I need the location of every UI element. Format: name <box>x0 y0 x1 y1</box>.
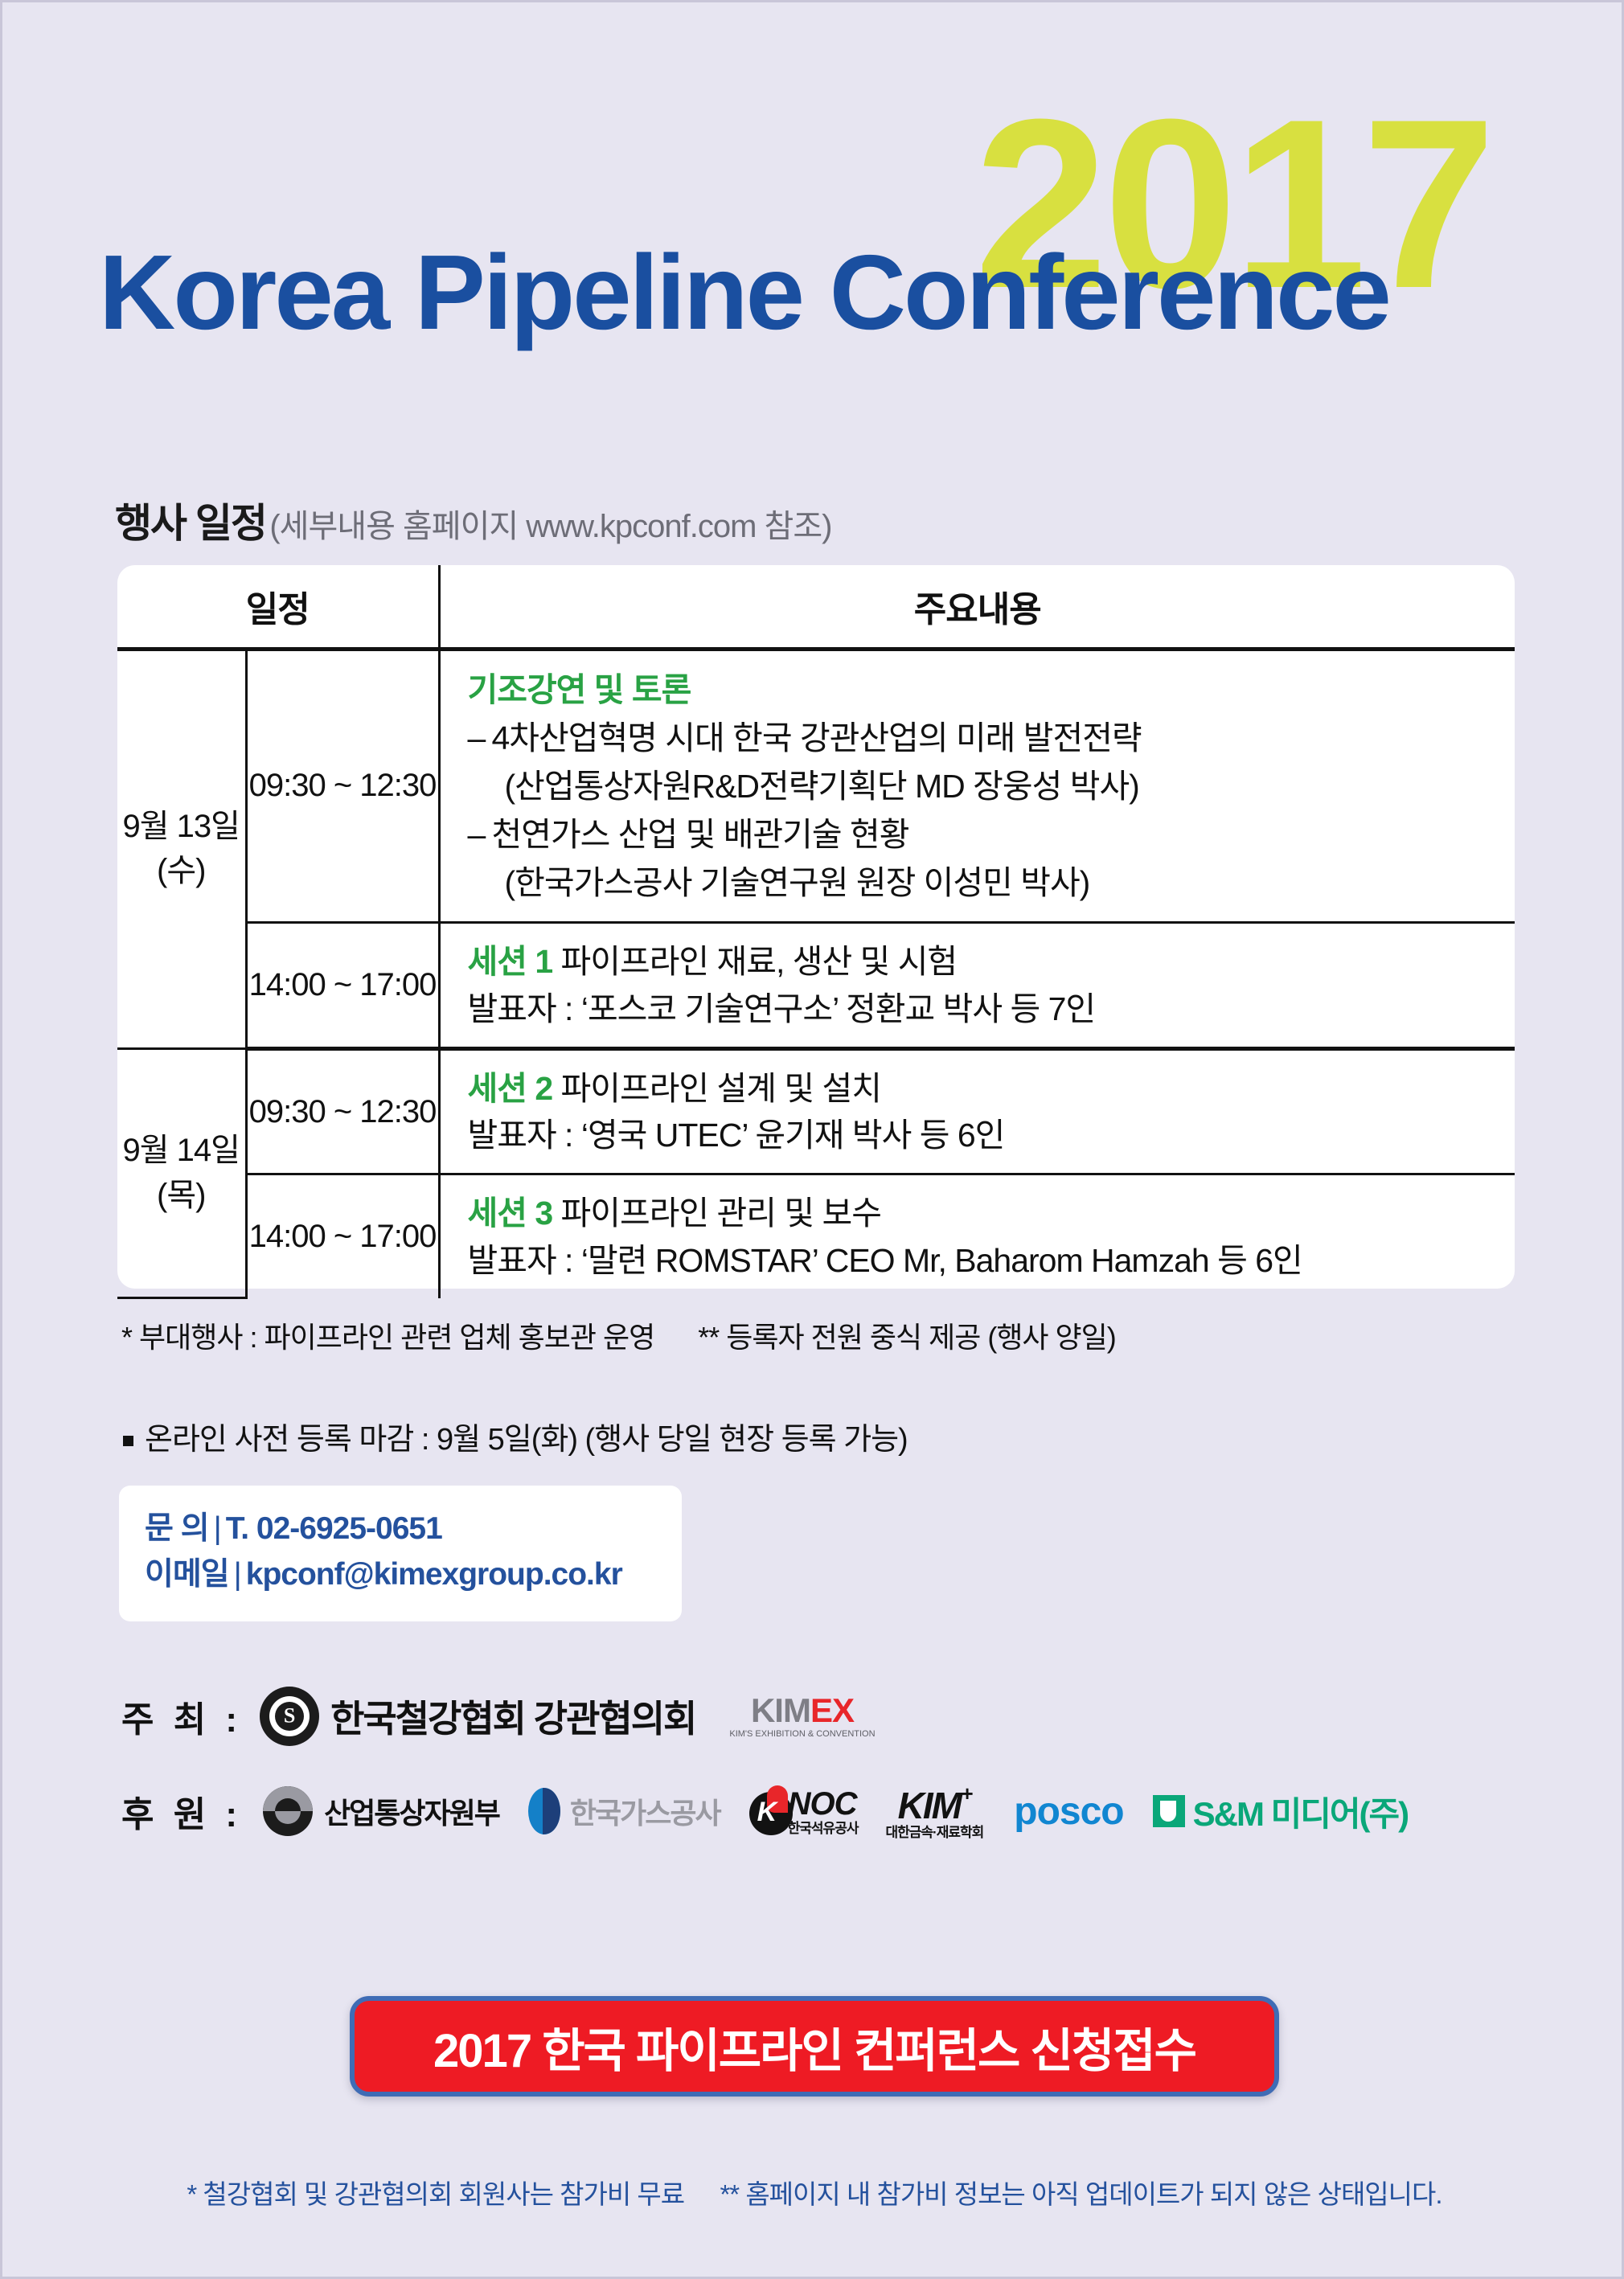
notes-row: * 부대행사 : 파이프라인 관련 업체 홍보관 운영 ** 등록자 전원 중식… <box>121 1314 1116 1356</box>
session-1-presenter: 발표자 : ‘포스코 기술연구소’ 정환교 박사 등 7인 <box>468 986 1515 1032</box>
contact-phone-label: 문 의 <box>145 1511 209 1546</box>
keynote-item-1-main: 4차산업혁명 시대 한국 강관산업의 미래 발전전략 <box>492 719 1142 756</box>
keynote-item-1: –4차산업혁명 시대 한국 강관산업의 미래 발전전략 <box>468 715 1515 763</box>
contact-email-label: 이메일 <box>145 1557 229 1592</box>
schedule-table-wrapper: 일정 주요내용 9월 13일 (수) 09:30 ~ 12:30 기조강연 및 … <box>117 565 1515 1289</box>
registration-note-text: 온라인 사전 등록 마감 : 9월 5일(화) (행사 당일 현장 등록 가능) <box>145 1423 908 1457</box>
page-title: Korea Pipeline Conference <box>99 240 1389 346</box>
cell-date-sep13: 9월 13일 (수) <box>117 649 246 1048</box>
session-3-topic: 파이프라인 관리 및 보수 <box>561 1195 881 1232</box>
keynote-item-2: –천연가스 산업 및 배관기술 현황 <box>468 811 1515 859</box>
session-2-topic: 파이프라인 설계 및 설치 <box>561 1070 881 1107</box>
footer-notes: * 철강협회 및 강관협의회 회원사는 참가비 무료 ** 홈페이지 내 참가비… <box>2 2173 1624 2211</box>
registration-note: 온라인 사전 등록 마감 : 9월 5일(화) (행사 당일 현장 등록 가능) <box>123 1414 908 1458</box>
kimex-part1: KIM <box>751 1691 810 1729</box>
kimex-part2: EX <box>810 1691 854 1729</box>
sponsor-kim: KIM+ 대한금속·재료학회 <box>885 1783 983 1839</box>
knoc-icon <box>749 1792 793 1835</box>
sponsor-kim-name: KIM <box>898 1785 961 1826</box>
table-row: 14:00 ~ 17:00 세션 1 파이프라인 재료, 생산 및 시험 발표자… <box>117 923 1515 1048</box>
table-row: 9월 14일 (목) 09:30 ~ 12:30 세션 2 파이프라인 설계 및… <box>117 1048 1515 1174</box>
contact-phone-row: 문 의|T. 02-6925-0651 <box>145 1506 682 1552</box>
session-1-topic: 파이프라인 재료, 생산 및 시험 <box>561 943 958 980</box>
snm-icon <box>1153 1795 1185 1827</box>
separator: | <box>229 1557 246 1592</box>
separator: | <box>209 1511 226 1546</box>
schedule-heading-sub: (세부내용 홈페이지 www.kpconf.com 참조) <box>269 509 831 544</box>
sponsor-kogas: 한국가스공사 <box>528 1788 720 1834</box>
cell-content-session-2: 세션 2 파이프라인 설계 및 설치 발표자 : ‘영국 UTEC’ 윤기재 박… <box>439 1048 1515 1174</box>
date-line-1: 9월 14일 <box>117 1129 245 1173</box>
contact-email-row: 이메일|kpconf@kimexgroup.co.kr <box>145 1552 682 1598</box>
sponsor-snm-name: S&M 미디어(주) <box>1193 1787 1409 1836</box>
contact-email-value[interactable]: kpconf@kimexgroup.co.kr <box>246 1557 622 1592</box>
keynote-title: 기조강연 및 토론 <box>468 666 1515 715</box>
keynote-item-1-sub: (산업통상자원R&D전략기획단 MD 장웅성 박사) <box>468 763 1515 811</box>
cell-time-0930-1230-day2: 09:30 ~ 12:30 <box>246 1048 439 1174</box>
date-line-2: (수) <box>117 849 245 893</box>
keynote-item-2-sub: (한국가스공사 기술연구원 원장 이성민 박사) <box>468 859 1515 908</box>
apply-button[interactable]: 2017 한국 파이프라인 컨퍼런스 신청접수 <box>350 1996 1279 2097</box>
contact-phone-value[interactable]: T. 02-6925-0651 <box>226 1511 442 1546</box>
host-row: 주 최 : 한국철강협회 강관협의회 KIMEX KIM'S EXHIBITIO… <box>121 1687 876 1746</box>
sponsor-kogas-name: 한국가스공사 <box>570 1790 720 1832</box>
schedule-heading-main: 행사 일정 <box>115 501 266 546</box>
sponsor-snm: S&M 미디어(주) <box>1153 1787 1409 1836</box>
session-2-label: 세션 2 <box>468 1070 553 1107</box>
taegeuk-icon <box>263 1786 313 1836</box>
schedule-table: 일정 주요내용 9월 13일 (수) 09:30 ~ 12:30 기조강연 및 … <box>117 565 1515 1299</box>
kosa-seal-core-icon <box>275 1702 304 1731</box>
host-name: 한국철강협회 강관협의회 <box>330 1690 695 1743</box>
session-1-label: 세션 1 <box>468 943 553 980</box>
table-row: 14:00 ~ 17:00 세션 3 파이프라인 관리 및 보수 발표자 : ‘… <box>117 1174 1515 1298</box>
poster-root: 2017 Korea Pipeline Conference 행사 일정 (세부… <box>0 0 1624 2279</box>
sponsor-knoc: NOC 한국석유공사 <box>749 1788 859 1835</box>
session-2-presenter: 발표자 : ‘영국 UTEC’ 윤기재 박사 등 6인 <box>468 1112 1515 1158</box>
plus-icon: + <box>961 1781 971 1806</box>
square-bullet-icon <box>123 1436 133 1446</box>
sponsor-row: 후 원 : 산업통상자원부 한국가스공사 NOC 한국석유공사 KIM+ 대한금… <box>121 1783 1408 1839</box>
sponsor-knoc-name: NOC <box>788 1786 857 1822</box>
date-line-1: 9월 13일 <box>117 805 245 849</box>
cell-date-sep14: 9월 14일 (목) <box>117 1048 246 1297</box>
sponsor-kim-sub: 대한금속·재료학회 <box>885 1826 983 1839</box>
kimex-tagline: KIM'S EXHIBITION & CONVENTION <box>729 1730 875 1739</box>
sponsor-posco-name: posco <box>1014 1789 1123 1834</box>
host-label: 주 최 : <box>121 1691 242 1742</box>
sponsor-label: 후 원 : <box>121 1785 242 1837</box>
dash-marker: – <box>468 715 492 763</box>
sponsor-motie-name: 산업통상자원부 <box>324 1790 499 1832</box>
dash-marker: – <box>468 811 492 859</box>
cell-content-keynote: 기조강연 및 토론 –4차산업혁명 시대 한국 강관산업의 미래 발전전략 (산… <box>439 649 1515 923</box>
cell-time-1400-1700-day1: 14:00 ~ 17:00 <box>246 923 439 1048</box>
table-header-row: 일정 주요내용 <box>117 565 1515 649</box>
column-header-schedule: 일정 <box>117 565 439 649</box>
note-side-event: * 부대행사 : 파이프라인 관련 업체 홍보관 운영 <box>121 1321 654 1354</box>
apply-button-label: 2017 한국 파이프라인 컨퍼런스 신청접수 <box>433 2013 1195 2080</box>
session-3-presenter: 발표자 : ‘말련 ROMSTAR’ CEO Mr, Baharom Hamza… <box>468 1237 1515 1284</box>
footer-note-2: ** 홈페이지 내 참가비 정보는 아직 업데이트가 되지 않은 상태입니다. <box>720 2179 1442 2209</box>
cell-content-session-3: 세션 3 파이프라인 관리 및 보수 발표자 : ‘말련 ROMSTAR’ CE… <box>439 1174 1515 1298</box>
hero-banner: 2017 Korea Pipeline Conference <box>2 2 1624 453</box>
cell-time-1400-1700-day2: 14:00 ~ 17:00 <box>246 1174 439 1298</box>
column-header-content: 주요내용 <box>439 565 1515 649</box>
schedule-heading: 행사 일정 (세부내용 홈페이지 www.kpconf.com 참조) <box>115 491 831 549</box>
session-3-label: 세션 3 <box>468 1195 553 1232</box>
cell-time-0930-1230-day1: 09:30 ~ 12:30 <box>246 649 439 923</box>
sponsor-motie: 산업통상자원부 <box>263 1786 499 1836</box>
session-2-heading: 세션 2 파이프라인 설계 및 설치 <box>468 1065 1515 1112</box>
kimex-logo-icon: KIMEX KIM'S EXHIBITION & CONVENTION <box>729 1694 875 1739</box>
sponsor-knoc-sub: 한국석유공사 <box>788 1822 859 1835</box>
knoc-wordmark: NOC 한국석유공사 <box>788 1788 859 1835</box>
keynote-item-2-main: 천연가스 산업 및 배관기술 현황 <box>492 816 909 853</box>
session-3-heading: 세션 3 파이프라인 관리 및 보수 <box>468 1190 1515 1236</box>
footer-note-1: * 철강협회 및 강관협의회 회원사는 참가비 무료 <box>187 2179 684 2209</box>
date-line-2: (목) <box>117 1174 245 1218</box>
note-lunch: ** 등록자 전원 중식 제공 (행사 양일) <box>698 1321 1116 1354</box>
cell-content-session-1: 세션 1 파이프라인 재료, 생산 및 시험 발표자 : ‘포스코 기술연구소’… <box>439 923 1515 1048</box>
contact-box: 문 의|T. 02-6925-0651 이메일|kpconf@kimexgrou… <box>119 1486 682 1621</box>
session-1-heading: 세션 1 파이프라인 재료, 생산 및 시험 <box>468 938 1515 985</box>
table-row: 9월 13일 (수) 09:30 ~ 12:30 기조강연 및 토론 –4차산업… <box>117 649 1515 923</box>
kogas-icon <box>528 1788 560 1834</box>
kosa-seal-icon <box>260 1687 319 1746</box>
